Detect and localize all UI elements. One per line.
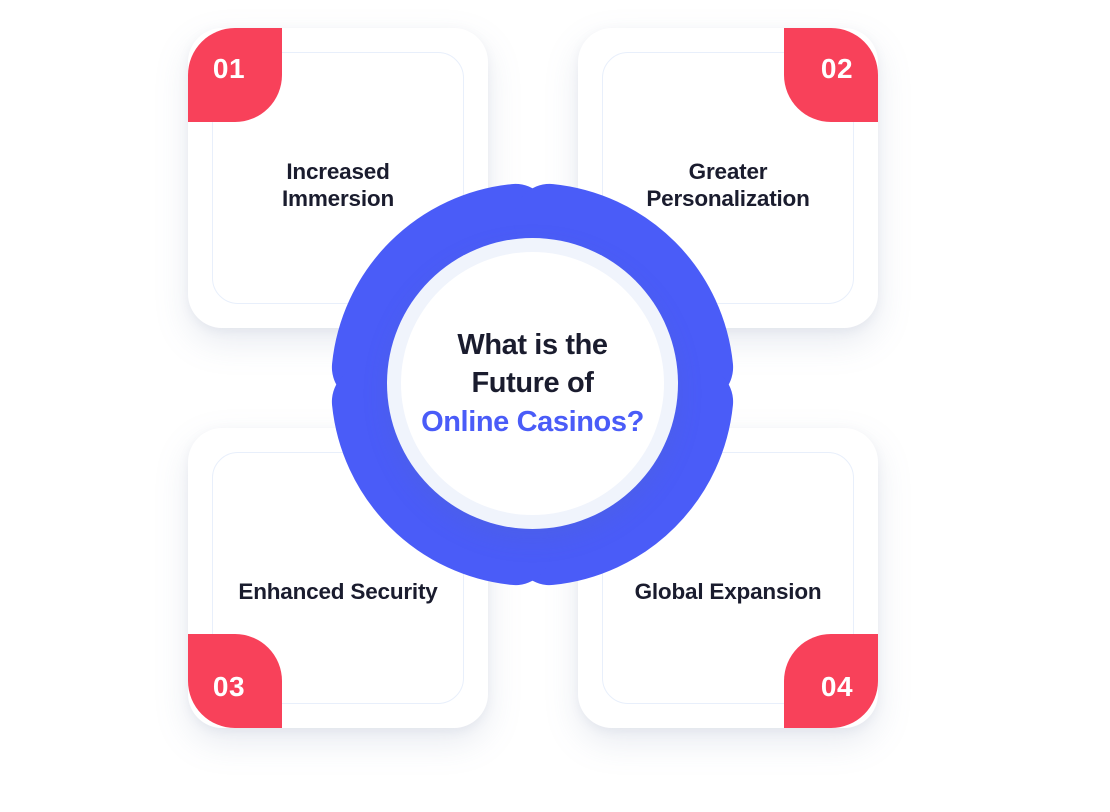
badge-01[interactable]: 01 [188,28,282,122]
center-hub: What is the Future of Online Casinos? [387,238,678,529]
center-title: What is the Future of [457,326,607,403]
badge-04[interactable]: 04 [784,634,878,728]
badge-number-02: 02 [821,53,853,85]
center-title-accent: Online Casinos? [421,403,644,442]
badge-number-03: 03 [213,671,245,703]
badge-02[interactable]: 02 [784,28,878,122]
badge-number-01: 01 [213,53,245,85]
badge-03[interactable]: 03 [188,634,282,728]
badge-number-04: 04 [821,671,853,703]
infographic-canvas: Increased Immersion Greater Personalizat… [0,0,1110,812]
center-hub-face: What is the Future of Online Casinos? [401,252,664,515]
